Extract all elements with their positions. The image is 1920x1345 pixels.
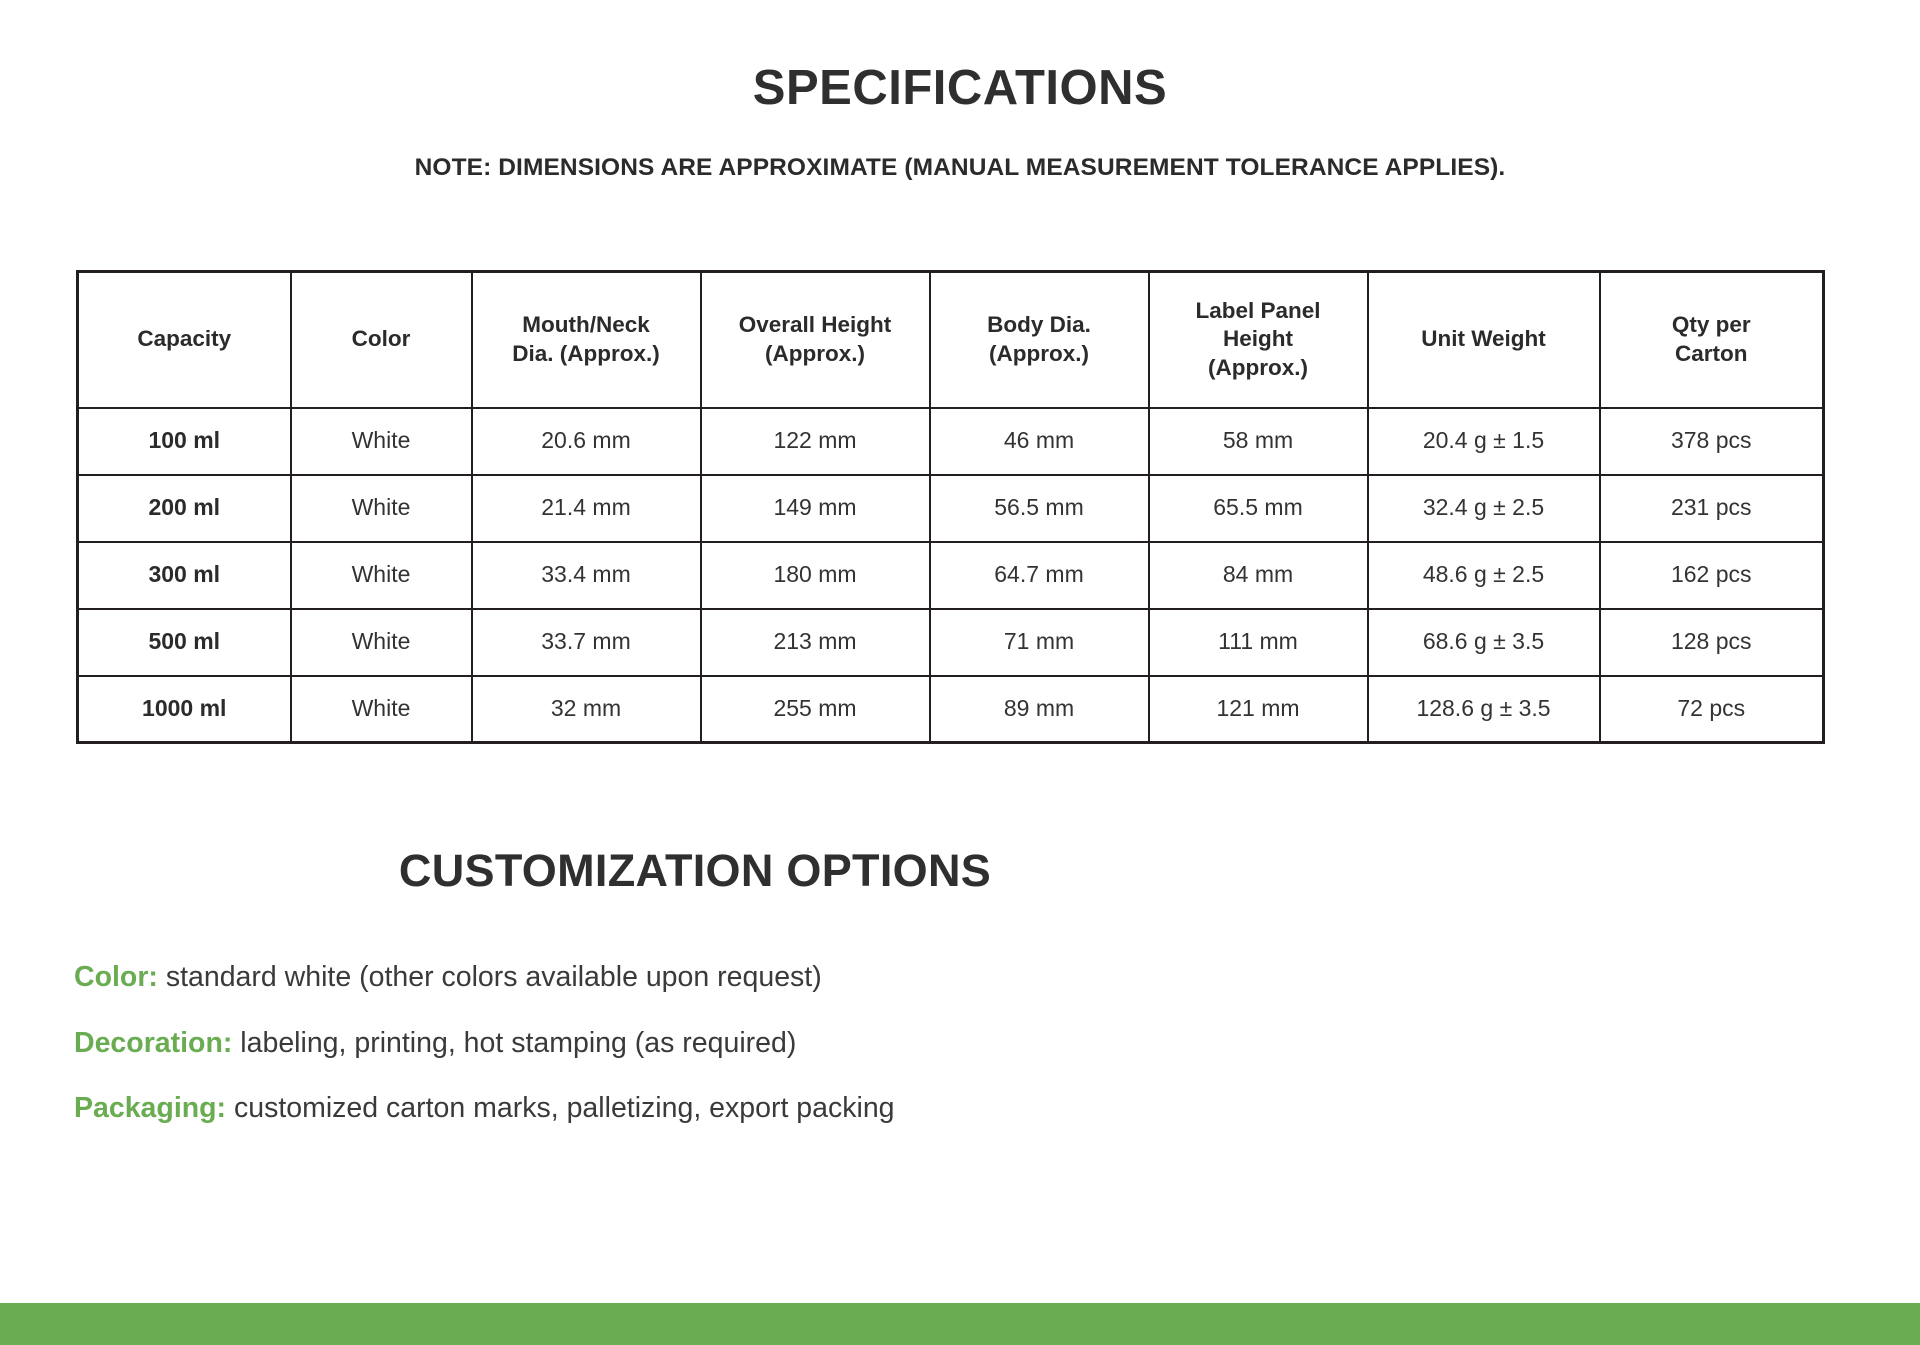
cell-mouth-neck-dia: 33.7 mm xyxy=(472,609,701,676)
cell-color: White xyxy=(291,542,472,609)
cell-unit-weight: 32.4 g ± 2.5 xyxy=(1368,475,1600,542)
column-header-line: (Approx.) xyxy=(989,341,1089,366)
column-header-qty-per-carton: Qty per Carton xyxy=(1600,272,1824,408)
specifications-page: SPECIFICATIONS NOTE: DIMENSIONS ARE APPR… xyxy=(0,0,1920,1345)
cell-label-panel-height: 84 mm xyxy=(1149,542,1368,609)
customization-label-packaging: Packaging: xyxy=(74,1092,226,1124)
column-header-line: Height xyxy=(1223,326,1293,351)
column-header-line: Dia. (Approx.) xyxy=(512,341,660,366)
cell-color: White xyxy=(291,408,472,475)
column-header-line: Label Panel xyxy=(1195,298,1320,323)
list-item: Color: standard white (other colors avai… xyxy=(74,963,1574,992)
cell-capacity: 1000 ml xyxy=(78,676,291,743)
column-header-body-dia: Body Dia. (Approx.) xyxy=(930,272,1149,408)
table-row: 500 ml White 33.7 mm 213 mm 71 mm 111 mm… xyxy=(78,609,1824,676)
column-header-line: Body Dia. xyxy=(987,312,1091,337)
table-row: 100 ml White 20.6 mm 122 mm 46 mm 58 mm … xyxy=(78,408,1824,475)
cell-qty-per-carton: 128 pcs xyxy=(1600,609,1824,676)
cell-unit-weight: 20.4 g ± 1.5 xyxy=(1368,408,1600,475)
bottom-accent-bar xyxy=(0,1303,1920,1345)
cell-overall-height: 149 mm xyxy=(701,475,930,542)
specifications-table: Capacity Color Mouth/Neck Dia. (Approx.)… xyxy=(76,270,1825,744)
cell-body-dia: 56.5 mm xyxy=(930,475,1149,542)
cell-unit-weight: 128.6 g ± 3.5 xyxy=(1368,676,1600,743)
customization-title: CUSTOMIZATION OPTIONS xyxy=(0,845,1390,897)
cell-body-dia: 71 mm xyxy=(930,609,1149,676)
cell-label-panel-height: 65.5 mm xyxy=(1149,475,1368,542)
cell-capacity: 500 ml xyxy=(78,609,291,676)
table-header-row: Capacity Color Mouth/Neck Dia. (Approx.)… xyxy=(78,272,1824,408)
column-header-unit-weight: Unit Weight xyxy=(1368,272,1600,408)
cell-mouth-neck-dia: 33.4 mm xyxy=(472,542,701,609)
column-header-line: (Approx.) xyxy=(765,341,865,366)
cell-mouth-neck-dia: 21.4 mm xyxy=(472,475,701,542)
column-header-color: Color xyxy=(291,272,472,408)
cell-capacity: 300 ml xyxy=(78,542,291,609)
cell-label-panel-height: 58 mm xyxy=(1149,408,1368,475)
table-row: 300 ml White 33.4 mm 180 mm 64.7 mm 84 m… xyxy=(78,542,1824,609)
cell-unit-weight: 48.6 g ± 2.5 xyxy=(1368,542,1600,609)
cell-mouth-neck-dia: 20.6 mm xyxy=(472,408,701,475)
cell-qty-per-carton: 162 pcs xyxy=(1600,542,1824,609)
cell-qty-per-carton: 231 pcs xyxy=(1600,475,1824,542)
list-item: Packaging: customized carton marks, pall… xyxy=(74,1094,1574,1123)
cell-body-dia: 46 mm xyxy=(930,408,1149,475)
page-title: SPECIFICATIONS xyxy=(0,0,1920,116)
column-header-line: (Approx.) xyxy=(1208,355,1308,380)
column-header-line: Overall Height xyxy=(739,312,892,337)
cell-capacity: 100 ml xyxy=(78,408,291,475)
cell-color: White xyxy=(291,676,472,743)
table-row: 1000 ml White 32 mm 255 mm 89 mm 121 mm … xyxy=(78,676,1824,743)
table-row: 200 ml White 21.4 mm 149 mm 56.5 mm 65.5… xyxy=(78,475,1824,542)
cell-body-dia: 64.7 mm xyxy=(930,542,1149,609)
cell-overall-height: 255 mm xyxy=(701,676,930,743)
column-header-mouth-neck-dia: Mouth/Neck Dia. (Approx.) xyxy=(472,272,701,408)
customization-label-decoration: Decoration: xyxy=(74,1027,232,1059)
cell-qty-per-carton: 72 pcs xyxy=(1600,676,1824,743)
column-header-line: Color xyxy=(352,326,411,351)
customization-value-packaging: customized carton marks, palletizing, ex… xyxy=(234,1092,895,1124)
column-header-line: Carton xyxy=(1675,341,1748,366)
cell-overall-height: 180 mm xyxy=(701,542,930,609)
column-header-label-panel-height: Label Panel Height (Approx.) xyxy=(1149,272,1368,408)
specifications-table-wrapper: Capacity Color Mouth/Neck Dia. (Approx.)… xyxy=(76,270,1822,744)
cell-color: White xyxy=(291,475,472,542)
customization-value-color: standard white (other colors available u… xyxy=(166,961,822,993)
cell-overall-height: 122 mm xyxy=(701,408,930,475)
customization-label-color: Color: xyxy=(74,961,158,993)
column-header-capacity: Capacity xyxy=(78,272,291,408)
cell-qty-per-carton: 378 pcs xyxy=(1600,408,1824,475)
column-header-line: Mouth/Neck xyxy=(522,312,650,337)
column-header-overall-height: Overall Height (Approx.) xyxy=(701,272,930,408)
cell-body-dia: 89 mm xyxy=(930,676,1149,743)
column-header-line: Unit Weight xyxy=(1421,326,1546,351)
cell-capacity: 200 ml xyxy=(78,475,291,542)
column-header-line: Qty per xyxy=(1672,312,1751,337)
measurement-note: NOTE: DIMENSIONS ARE APPROXIMATE (MANUAL… xyxy=(0,116,1920,182)
cell-label-panel-height: 121 mm xyxy=(1149,676,1368,743)
cell-color: White xyxy=(291,609,472,676)
list-item: Decoration: labeling, printing, hot stam… xyxy=(74,1029,1574,1058)
cell-label-panel-height: 111 mm xyxy=(1149,609,1368,676)
cell-mouth-neck-dia: 32 mm xyxy=(472,676,701,743)
customization-value-decoration: labeling, printing, hot stamping (as req… xyxy=(240,1027,796,1059)
cell-overall-height: 213 mm xyxy=(701,609,930,676)
cell-unit-weight: 68.6 g ± 3.5 xyxy=(1368,609,1600,676)
column-header-line: Capacity xyxy=(137,326,231,351)
customization-list: Color: standard white (other colors avai… xyxy=(74,963,1574,1160)
